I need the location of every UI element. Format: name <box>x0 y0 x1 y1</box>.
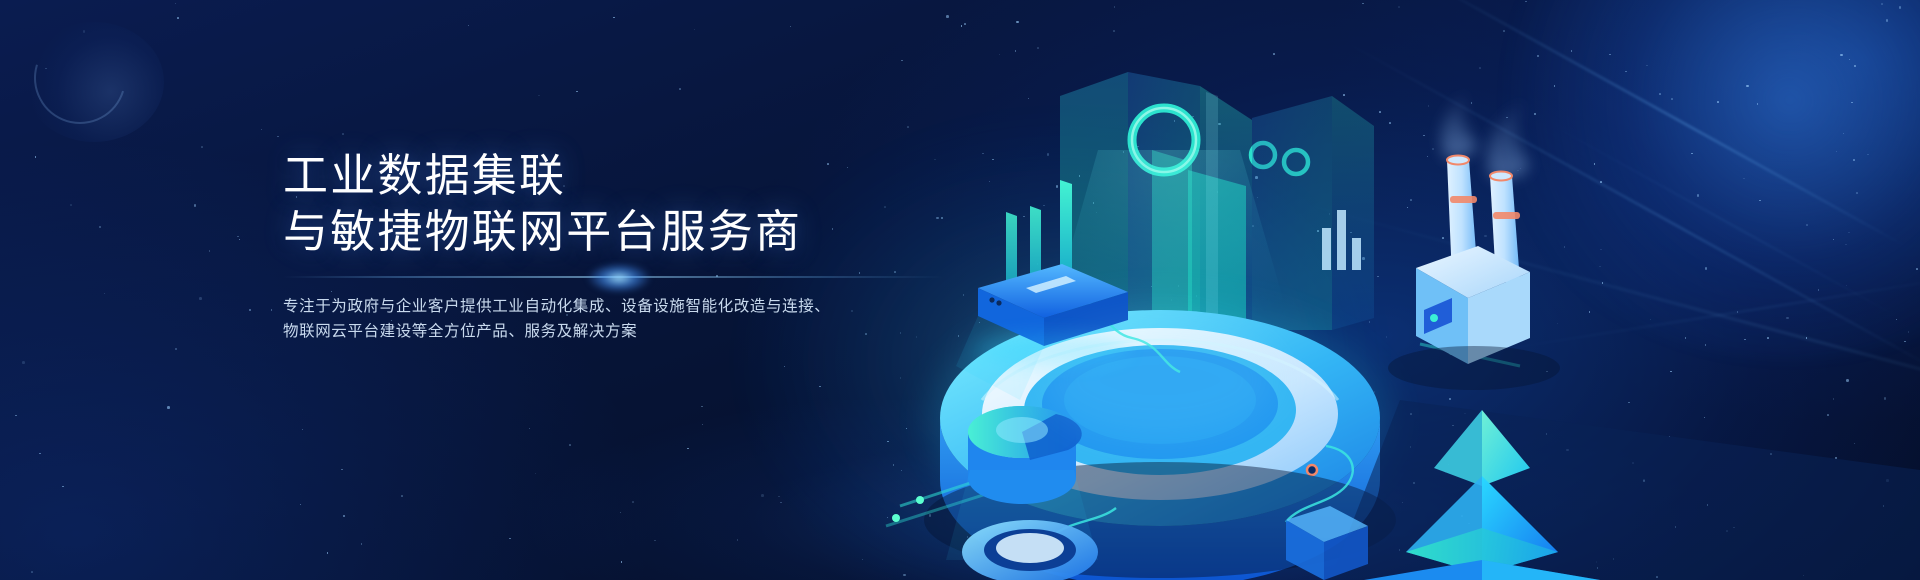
hero-title-line-2: 与敏捷物联网平台服务商 <box>283 204 1003 260</box>
hero-copy: 工业数据集联 与敏捷物联网平台服务商 专注于为政府与企业客户提供工业自动化集成、… <box>283 148 1003 344</box>
title-divider <box>283 276 943 278</box>
factory-chimneys <box>1388 88 1560 390</box>
hero-subtitle-line-1: 专注于为政府与企业客户提供工业自动化集成、设备设施智能化改造与连接、 <box>283 294 1003 319</box>
hero-subtitle-line-2: 物联网云平台建设等全方位产品、服务及解决方案 <box>283 319 1003 344</box>
layered-pyramid <box>1330 400 1920 580</box>
hero-banner: 工业数据集联 与敏捷物联网平台服务商 专注于为政府与企业客户提供工业自动化集成、… <box>0 0 1920 580</box>
hero-title-line-1: 工业数据集联 <box>283 148 1003 204</box>
disc-top-glow <box>1040 320 1280 440</box>
